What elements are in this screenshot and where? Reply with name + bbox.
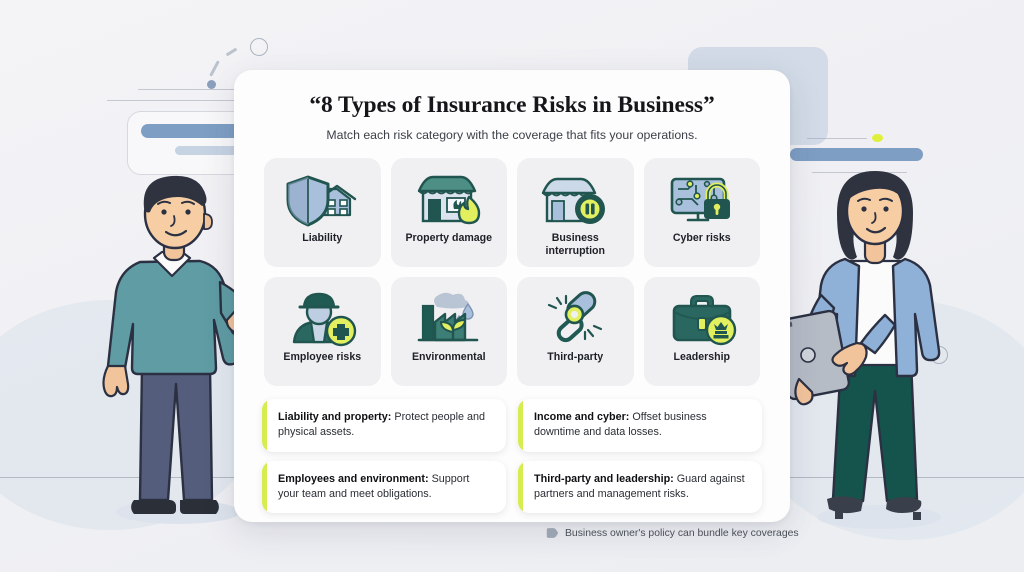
briefcase-chess-queen-icon [666, 287, 738, 349]
callout-text: Liability and property: Protect people a… [278, 410, 493, 441]
risk-tile-environmental[interactable]: Environmental [391, 277, 508, 386]
background-circle-outline-top [250, 38, 268, 56]
risk-tile-business-interruption[interactable]: Businessinterruption [517, 158, 634, 267]
worker-medical-cross-icon [286, 287, 358, 349]
callout-accent-bar [262, 399, 267, 452]
shield-house-icon [286, 168, 358, 230]
background-dash-one [209, 60, 220, 76]
risk-tile-label: Employee risks [279, 351, 365, 364]
callout-third-party-and-leadership: Third-party and leadership: Guard agains… [518, 461, 762, 514]
background-line-left-lower [107, 100, 252, 101]
risk-tile-label: Third-party [543, 351, 607, 364]
risk-tile-label: Environmental [408, 351, 490, 364]
footer-note: Business owner's policy can bundle key c… [546, 527, 799, 539]
tag-icon [546, 527, 559, 539]
factory-plant-icon [413, 287, 485, 349]
callout-grid: Liability and property: Protect people a… [262, 399, 762, 513]
storefront-pause-icon [539, 168, 611, 230]
callout-text: Third-party and leadership: Guard agains… [534, 472, 749, 503]
risk-tile-cyber-risks[interactable]: Cyber risks [644, 158, 761, 267]
broken-chain-icon [539, 287, 611, 349]
background-line-left-upper [138, 89, 238, 90]
callout-income-and-cyber: Income and cyber: Offset business downti… [518, 399, 762, 452]
risk-tile-leadership[interactable]: Leadership [644, 277, 761, 386]
callout-liability-and-property: Liability and property: Protect people a… [262, 399, 506, 452]
storefront-fire-icon [413, 168, 485, 230]
risk-tile-label: Businessinterruption [542, 232, 609, 258]
risk-tile-employee-risks[interactable]: Employee risks [264, 277, 381, 386]
background-dot-blue [207, 80, 216, 89]
page-title: “8 Types of Insurance Risks in Business” [260, 92, 764, 119]
callout-text: Income and cyber: Offset business downti… [534, 410, 749, 441]
risk-tile-label: Property damage [401, 232, 496, 245]
callout-lead: Income and cyber: [534, 411, 629, 423]
callout-lead: Liability and property: [278, 411, 391, 423]
callout-employees-and-environment: Employees and environment: Support your … [262, 461, 506, 514]
risk-tile-third-party[interactable]: Third-party [517, 277, 634, 386]
page-subtitle: Match each risk category with the covera… [264, 128, 760, 142]
risk-tile-label: Leadership [669, 351, 734, 364]
callout-accent-bar [262, 461, 267, 514]
callout-lead: Employees and environment: [278, 473, 429, 485]
risk-tile-liability[interactable]: Liability [264, 158, 381, 267]
background-bar-right [790, 148, 923, 161]
callout-accent-bar [518, 399, 523, 452]
risk-tile-label: Liability [298, 232, 346, 245]
background-line-right-upper [807, 138, 867, 139]
callout-text: Employees and environment: Support your … [278, 472, 493, 503]
background-dot-lime [872, 134, 883, 142]
risk-tile-grid: Liability Property damage [264, 158, 760, 386]
footer-note-text: Business owner's policy can bundle key c… [565, 528, 799, 539]
risk-tile-label: Cyber risks [669, 232, 735, 245]
infographic-scene: “8 Types of Insurance Risks in Business”… [0, 0, 1024, 572]
risk-tile-property-damage[interactable]: Property damage [391, 158, 508, 267]
callout-accent-bar [518, 461, 523, 514]
background-dash-two [226, 48, 238, 57]
woman-with-tablet-illustration [775, 165, 975, 535]
callout-lead: Third-party and leadership: [534, 473, 674, 485]
monitor-lock-icon [666, 168, 738, 230]
infographic-card: “8 Types of Insurance Risks in Business”… [234, 70, 790, 522]
